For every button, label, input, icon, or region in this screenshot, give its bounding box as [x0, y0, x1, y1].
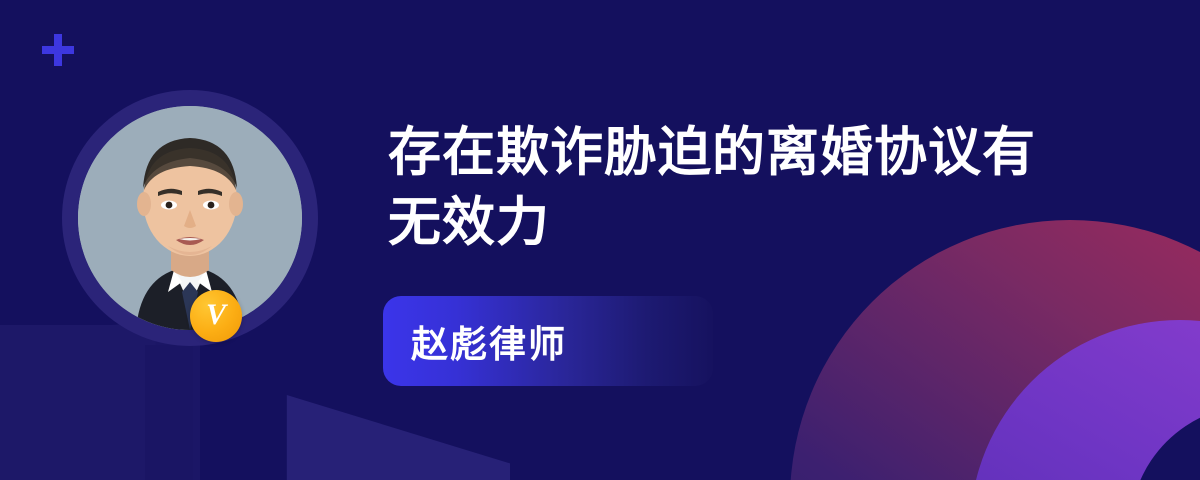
lawyer-question-banner: V 存在欺诈胁迫的离婚协议有无效力 赵彪律师	[0, 0, 1200, 480]
background-arc-outer	[790, 220, 1200, 480]
avatar-photo	[78, 106, 302, 330]
page-title: 存在欺诈胁迫的离婚协议有无效力	[388, 118, 1078, 258]
background-arc-inner	[1130, 405, 1200, 480]
verified-badge: V	[190, 290, 242, 342]
background-polygon-wedge	[150, 395, 510, 480]
lawyer-name-button[interactable]: 赵彪律师	[383, 296, 713, 386]
avatar	[62, 90, 318, 346]
background-polygon-stem	[145, 345, 193, 480]
background-polygon-band	[0, 325, 157, 480]
plus-icon	[42, 34, 74, 66]
background-arc-middle	[970, 320, 1200, 480]
content-block: 存在欺诈胁迫的离婚协议有无效力	[388, 118, 1088, 258]
verified-badge-mark: V	[206, 300, 226, 330]
